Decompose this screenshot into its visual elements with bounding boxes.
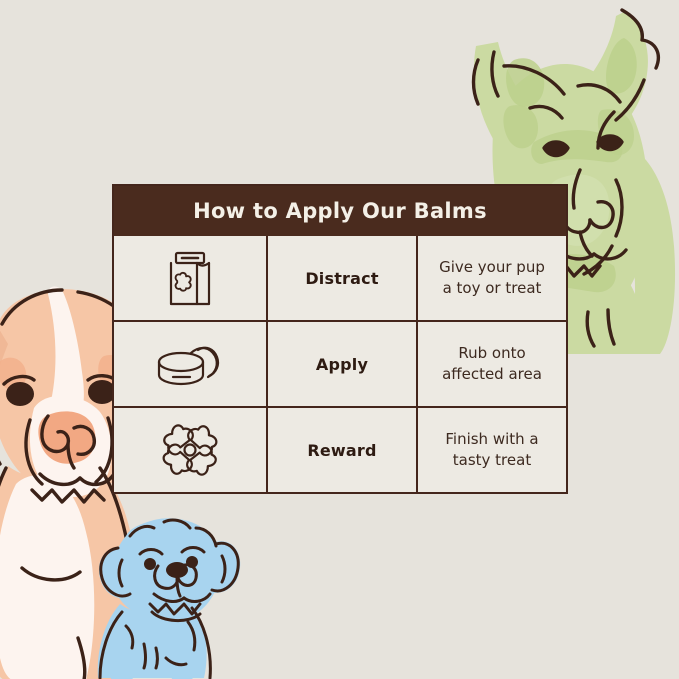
description-text: Rub onto affected area <box>442 343 542 386</box>
step-label: Distract <box>305 269 378 288</box>
row-description-cell: Rub onto affected area <box>416 322 566 406</box>
row-description-cell: Give your pup a toy or treat <box>416 236 566 320</box>
description-line-2: tasty treat <box>453 451 531 469</box>
row-description-cell: Finish with a tasty treat <box>416 408 566 492</box>
row-icon-cell <box>114 322 266 406</box>
row-step-cell: Apply <box>266 322 416 406</box>
poster-canvas: How to Apply Our Balms <box>0 0 679 679</box>
treat-bag-icon <box>151 246 229 310</box>
step-label: Apply <box>316 355 368 374</box>
description-line-2: a toy or treat <box>443 279 542 297</box>
how-to-apply-table: How to Apply Our Balms <box>112 184 568 494</box>
row-step-cell: Reward <box>266 408 416 492</box>
description-text: Give your pup a toy or treat <box>439 257 545 300</box>
row-step-cell: Distract <box>266 236 416 320</box>
description-line-1: Give your pup <box>439 258 545 276</box>
description-line-1: Rub onto <box>458 344 525 362</box>
description-line-1: Finish with a <box>445 430 538 448</box>
blue-dog-illustration <box>92 508 277 679</box>
balm-tin-icon <box>151 332 229 396</box>
table-row: Distract Give your pup a toy or treat <box>114 236 566 320</box>
step-label: Reward <box>307 441 376 460</box>
table-body: Distract Give your pup a toy or treat <box>114 236 566 492</box>
description-line-2: affected area <box>442 365 542 383</box>
row-icon-cell <box>114 236 266 320</box>
description-text: Finish with a tasty treat <box>445 429 538 472</box>
table-header: How to Apply Our Balms <box>114 186 566 236</box>
table-row: Reward Finish with a tasty treat <box>114 406 566 492</box>
page-title: How to Apply Our Balms <box>193 199 487 223</box>
row-icon-cell <box>114 408 266 492</box>
crossed-bones-icon <box>151 418 229 482</box>
table-row: Apply Rub onto affected area <box>114 320 566 406</box>
